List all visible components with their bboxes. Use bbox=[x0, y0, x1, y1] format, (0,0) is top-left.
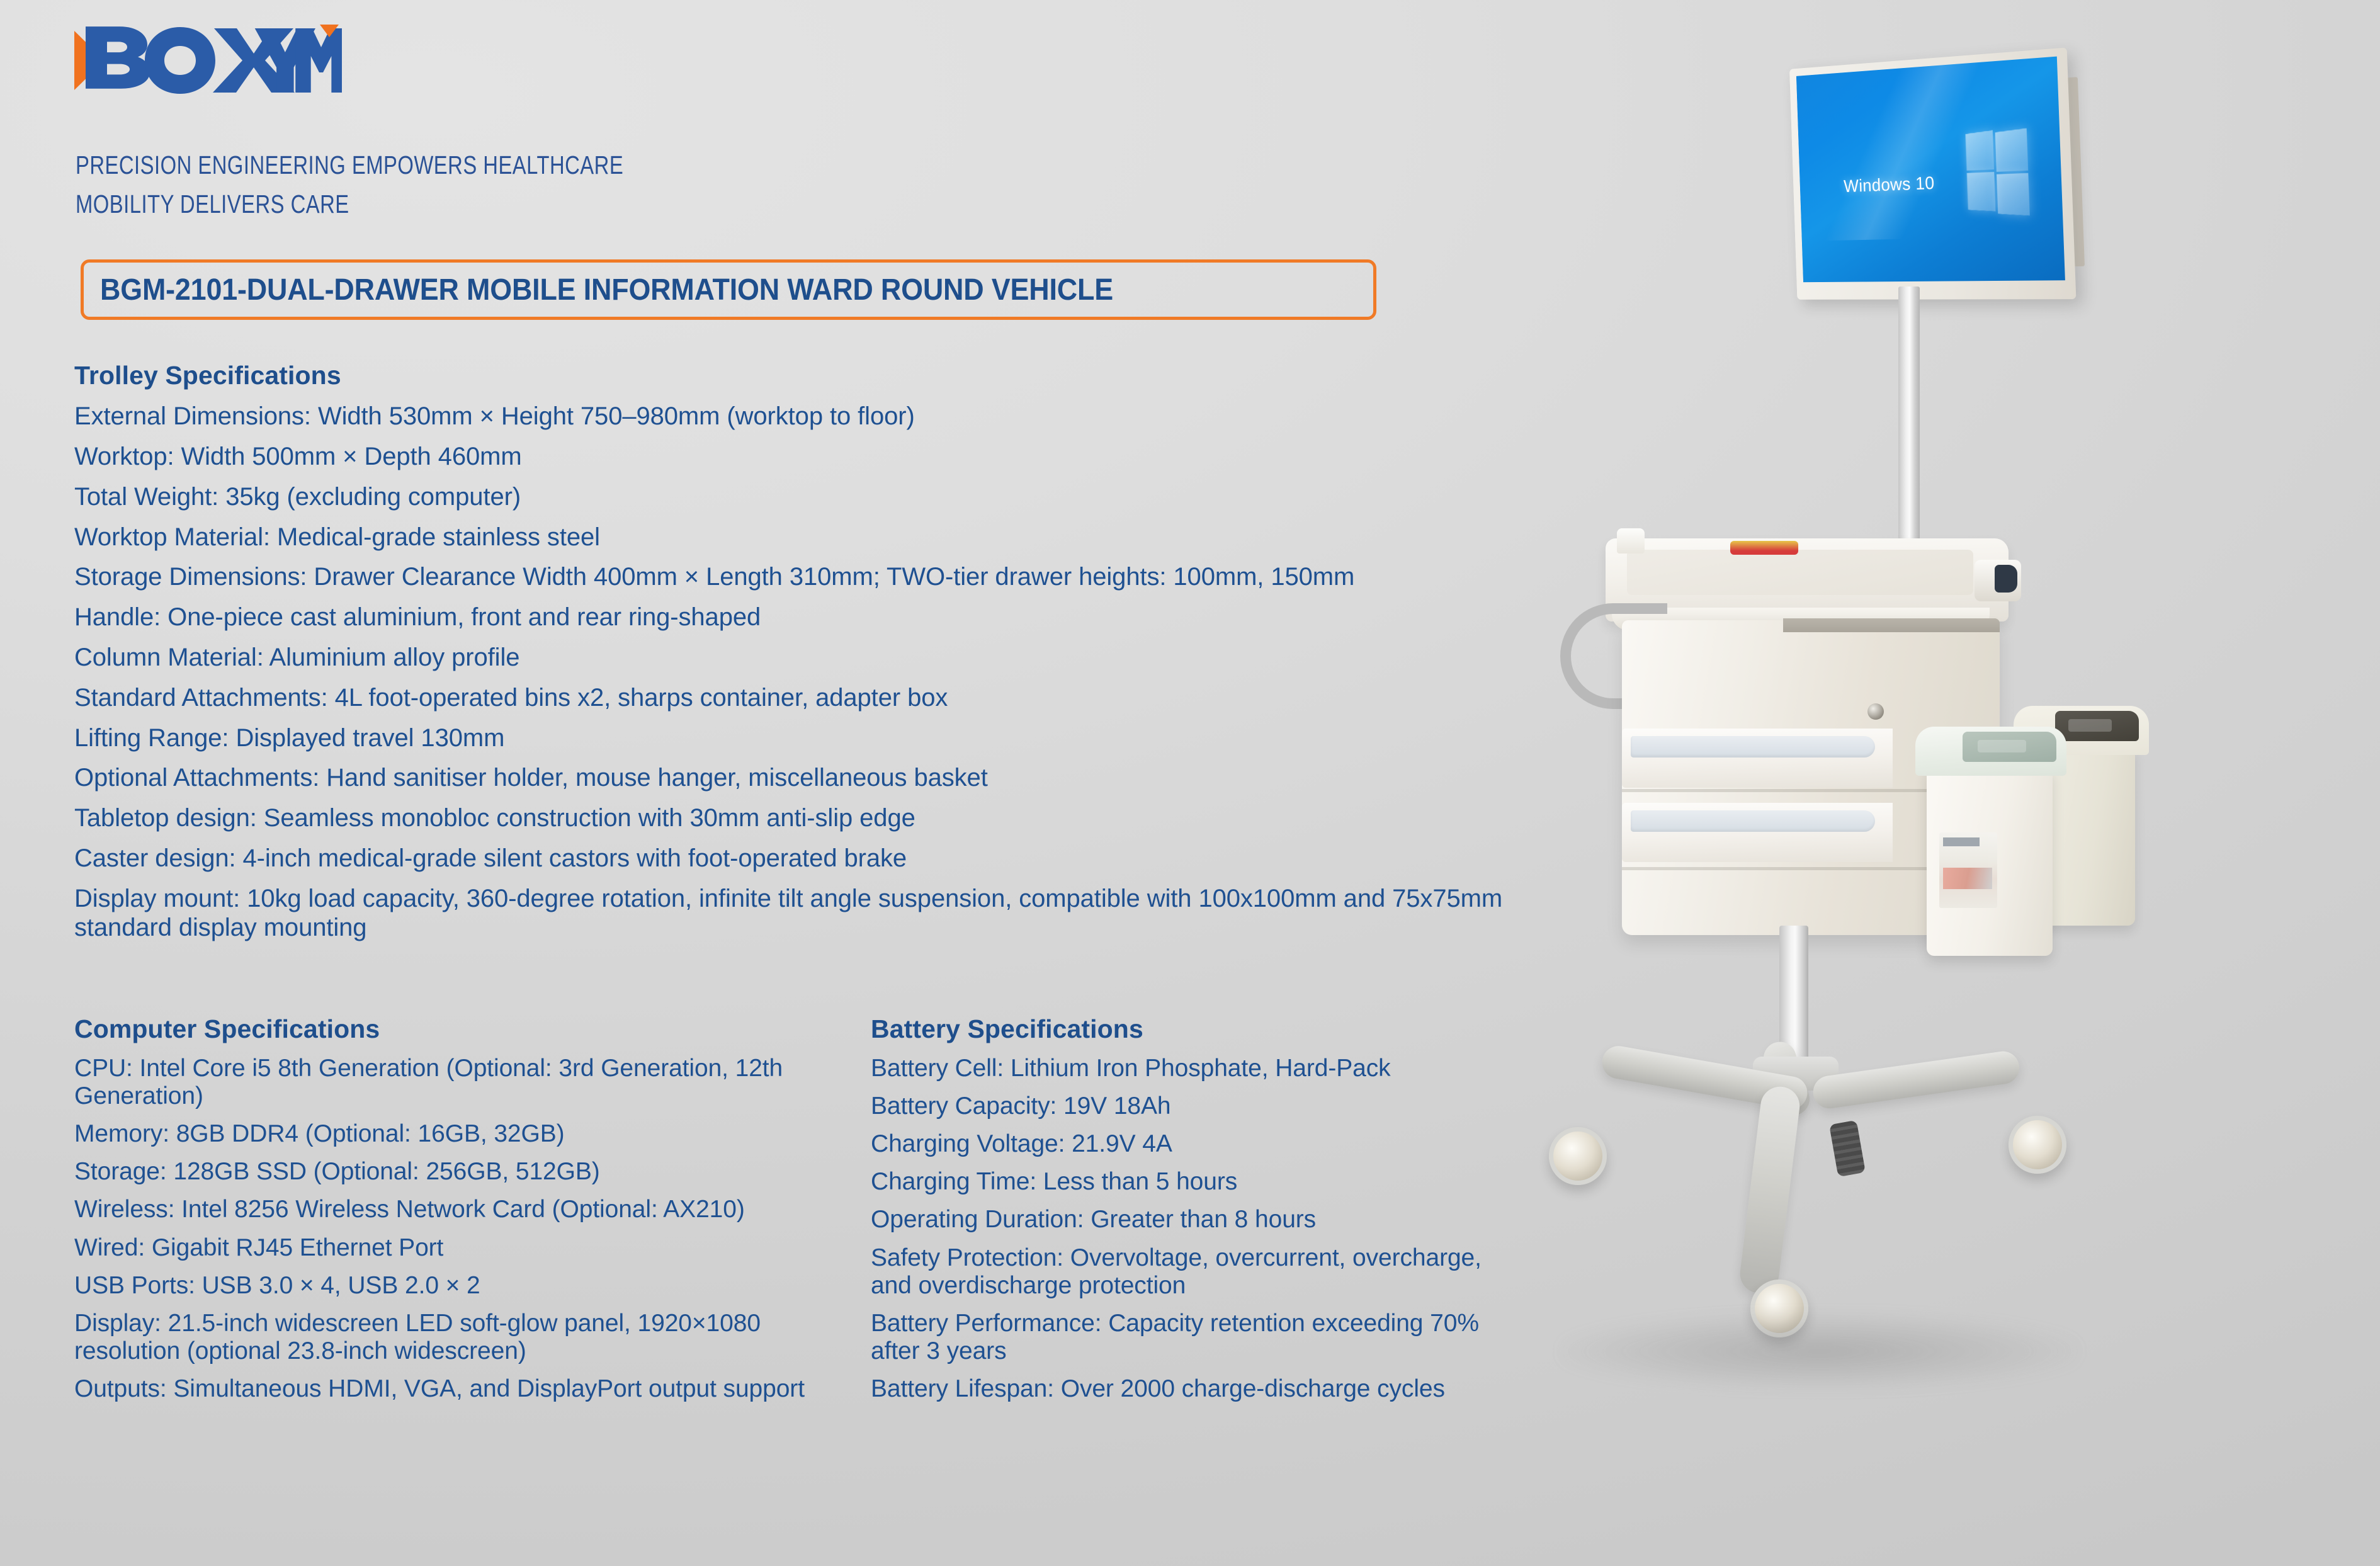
spec-line: Handle: One-piece cast aluminium, front … bbox=[74, 603, 1516, 632]
page-title: BGM-2101-DUAL-DRAWER MOBILE INFORMATION … bbox=[100, 273, 1113, 307]
worktop-surface bbox=[1627, 550, 1973, 595]
spec-line: Lifting Range: Displayed travel 130mm bbox=[74, 724, 1516, 753]
scanner-holder bbox=[1975, 560, 2021, 601]
display-post bbox=[1898, 287, 1920, 570]
spec-line: Caster design: 4-inch medical-grade sile… bbox=[74, 844, 1516, 873]
trolley-specifications-section: Trolley Specifications External Dimensio… bbox=[74, 360, 1516, 942]
spec-line: CPU: Intel Core i5 8th Generation (Optio… bbox=[74, 1055, 834, 1110]
foot-pedal bbox=[1829, 1120, 1866, 1177]
trolley-specs-heading: Trolley Specifications bbox=[74, 360, 1516, 391]
spec-line: Wireless: Intel 8256 Wireless Network Ca… bbox=[74, 1196, 834, 1223]
spec-line: Worktop: Width 500mm × Depth 460mm bbox=[74, 443, 1516, 472]
spec-line: Display: 21.5-inch widescreen LED soft-g… bbox=[74, 1310, 834, 1365]
spec-line: External Dimensions: Width 530mm × Heigh… bbox=[74, 402, 1516, 431]
windows-logo-icon bbox=[1966, 125, 2030, 215]
monitor-screen: Windows 10 bbox=[1796, 57, 2065, 283]
spec-line: Charging Time: Less than 5 hours bbox=[871, 1168, 1522, 1196]
cabinet-lock-icon bbox=[1867, 703, 1884, 720]
spec-line: Safety Protection: Overvoltage, overcurr… bbox=[871, 1244, 1522, 1300]
spec-line: Storage Dimensions: Drawer Clearance Wid… bbox=[74, 563, 1516, 592]
spec-line: Charging Voltage: 21.9V 4A bbox=[871, 1130, 1522, 1158]
battery-specifications-section: Battery Specifications Battery Cell: Lit… bbox=[871, 1014, 1522, 1403]
boxym-logo-icon bbox=[74, 23, 342, 98]
caster-wheel bbox=[2009, 1116, 2066, 1174]
base-leg-front bbox=[1738, 1084, 1802, 1295]
spec-line: Battery Lifespan: Over 2000 charge-disch… bbox=[871, 1375, 1522, 1403]
drawer-upper bbox=[1622, 729, 1893, 788]
spec-line: Memory: 8GB DDR4 (Optional: 16GB, 32GB) bbox=[74, 1120, 834, 1148]
spec-line: Total Weight: 35kg (excluding computer) bbox=[74, 483, 1516, 512]
base-leg-right bbox=[1811, 1049, 2021, 1110]
brand-logo bbox=[74, 23, 342, 98]
product-photo: Windows 10 bbox=[1486, 0, 2380, 1566]
spec-line: Operating Duration: Greater than 8 hours bbox=[871, 1206, 1522, 1234]
spec-line: Column Material: Aluminium alloy profile bbox=[74, 644, 1516, 672]
bin-product-label bbox=[1939, 832, 1997, 908]
bin-swing-flap bbox=[1963, 732, 2056, 762]
spec-line: Battery Performance: Capacity retention … bbox=[871, 1310, 1522, 1365]
caster-wheel bbox=[1549, 1127, 1607, 1185]
accessory-tray bbox=[1730, 541, 1798, 555]
battery-specs-heading: Battery Specifications bbox=[871, 1014, 1522, 1045]
cabinet-top-edge bbox=[1783, 618, 2000, 632]
spec-line: Display mount: 10kg load capacity, 360-d… bbox=[74, 885, 1516, 943]
windows-version-label: Windows 10 bbox=[1844, 173, 1935, 197]
tagline-line-1: PRECISION ENGINEERING EMPOWERS HEALTHCAR… bbox=[76, 146, 623, 185]
product-spec-sheet: PRECISION ENGINEERING EMPOWERS HEALTHCAR… bbox=[0, 0, 2380, 1566]
computer-specifications-section: Computer Specifications CPU: Intel Core … bbox=[74, 1014, 871, 1403]
tagline-line-2: MOBILITY DELIVERS CARE bbox=[76, 185, 623, 224]
waste-bin-left bbox=[1927, 767, 2053, 956]
bin-swing-flap bbox=[2055, 711, 2139, 741]
spec-line: Tabletop design: Seamless monobloc const… bbox=[74, 804, 1516, 833]
drawer-lower bbox=[1622, 803, 1893, 862]
spec-line: Worktop Material: Medical-grade stainles… bbox=[74, 523, 1516, 552]
brand-tagline: PRECISION ENGINEERING EMPOWERS HEALTHCAR… bbox=[76, 146, 623, 224]
spec-line: Storage: 128GB SSD (Optional: 256GB, 512… bbox=[74, 1158, 834, 1186]
sanitiser-holder bbox=[1617, 528, 1645, 553]
spec-line: Standard Attachments: 4L foot-operated b… bbox=[74, 684, 1516, 713]
computer-specs-heading: Computer Specifications bbox=[74, 1014, 834, 1045]
bin-lid bbox=[1915, 727, 2066, 776]
floor-shadow bbox=[1561, 1314, 2078, 1389]
product-title-bar: BGM-2101-DUAL-DRAWER MOBILE INFORMATION … bbox=[81, 259, 1376, 320]
spec-line: Outputs: Simultaneous HDMI, VGA, and Dis… bbox=[74, 1375, 834, 1403]
spec-line: Optional Attachments: Hand sanitiser hol… bbox=[74, 764, 1516, 793]
drawer-pull-handle bbox=[1631, 810, 1875, 832]
spec-line: USB Ports: USB 3.0 × 4, USB 2.0 × 2 bbox=[74, 1272, 834, 1300]
spec-line: Wired: Gigabit RJ45 Ethernet Port bbox=[74, 1234, 834, 1262]
spec-line: Battery Cell: Lithium Iron Phosphate, Ha… bbox=[871, 1055, 1522, 1082]
spec-line: Battery Capacity: 19V 18Ah bbox=[871, 1092, 1522, 1120]
lower-specs-columns: Computer Specifications CPU: Intel Core … bbox=[74, 1014, 1522, 1403]
drawer-pull-handle bbox=[1631, 736, 1875, 757]
monitor: Windows 10 bbox=[1789, 47, 2076, 299]
specification-panel: PRECISION ENGINEERING EMPOWERS HEALTHCAR… bbox=[74, 0, 1535, 1566]
